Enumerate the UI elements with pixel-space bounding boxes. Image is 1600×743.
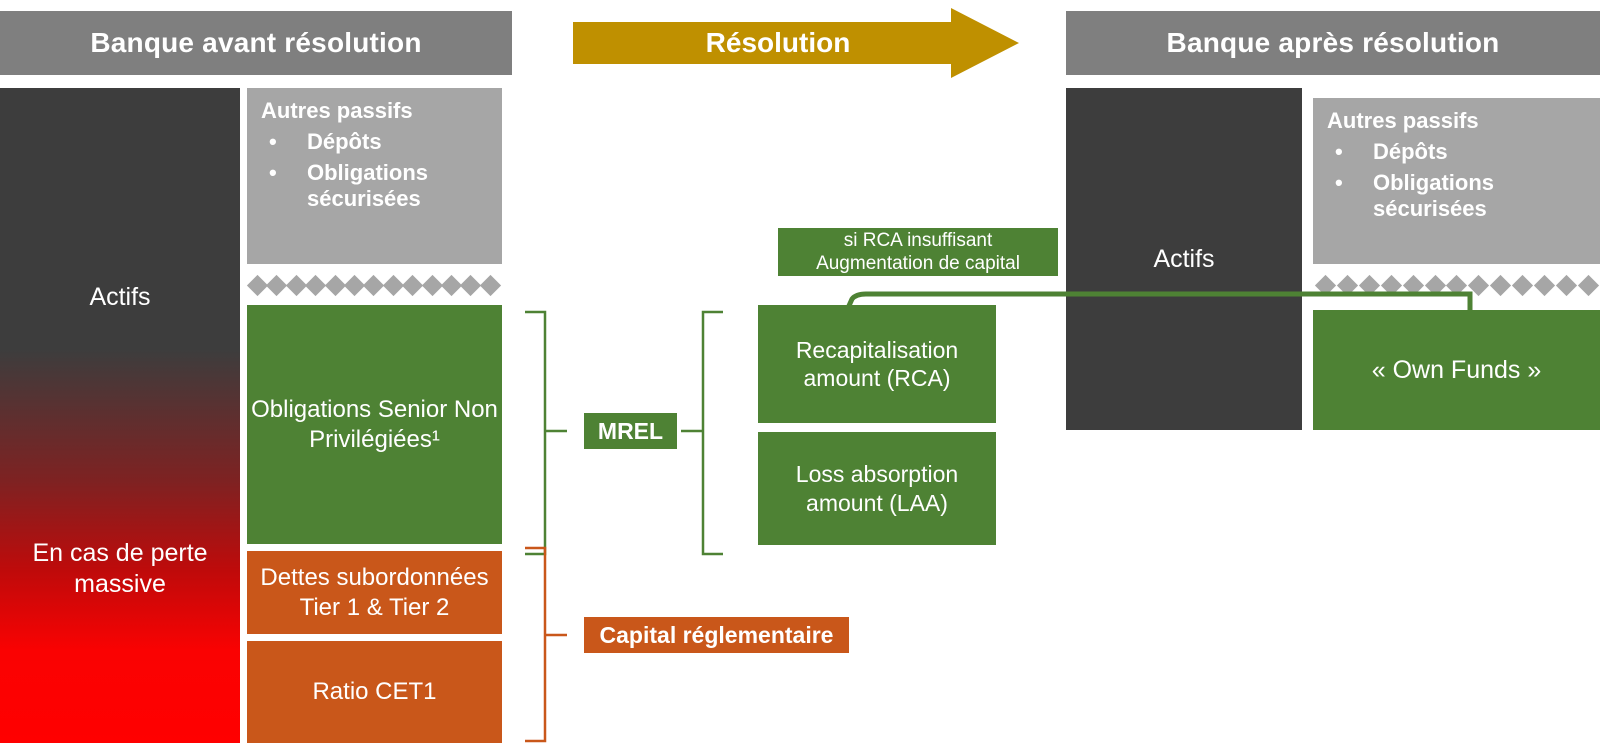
other-liabilities-item-label: Obligations sécurisées xyxy=(307,160,428,212)
rca-note-line2: Augmentation de capital xyxy=(816,252,1020,275)
massive-loss-line1: En cas de perte xyxy=(0,538,240,569)
resolution-arrow-icon xyxy=(573,8,1019,78)
other-liabilities-after: Autres passifs • Dépôts • Obligations sé… xyxy=(1313,98,1600,264)
other-liabilities-title-before: Autres passifs xyxy=(261,98,488,125)
regulatory-capital-bracket xyxy=(523,546,585,743)
senior-non-preferred-bonds-box: Obligations Senior Non Privilégiées¹ xyxy=(247,305,502,544)
laa-line1: Loss absorption xyxy=(796,460,958,488)
other-liabilities-item-label: Dépôts xyxy=(307,129,382,154)
mrel-label-box: MREL xyxy=(584,413,677,449)
assets-column-after: Actifs xyxy=(1066,88,1302,430)
assets-label-before: Actifs xyxy=(0,282,240,313)
other-liabilities-title-after: Autres passifs xyxy=(1327,108,1586,135)
mrel-left-bracket xyxy=(523,310,585,556)
diamond-icon xyxy=(1578,274,1599,295)
diamond-icon xyxy=(1556,274,1577,295)
other-liabilities-before: Autres passifs • Dépôts • Obligations sé… xyxy=(247,88,502,264)
massive-loss-label: En cas de perte massive xyxy=(0,538,240,599)
loss-absorption-amount-box: Loss absorption amount (LAA) xyxy=(758,432,996,545)
rca-note-line1: si RCA insuffisant xyxy=(816,229,1020,252)
rca-insufficient-note-box: si RCA insuffisant Augmentation de capit… xyxy=(778,228,1058,276)
bullet-icon: • xyxy=(269,129,277,156)
cet1-ratio-box: Ratio CET1 xyxy=(247,641,502,743)
rca-line2: amount (RCA) xyxy=(796,364,958,392)
regulatory-capital-label-box: Capital réglementaire xyxy=(584,617,849,653)
header-bank-after: Banque après résolution xyxy=(1066,11,1600,75)
rca-line1: Recapitalisation xyxy=(796,336,958,364)
bullet-icon: • xyxy=(1335,170,1343,197)
list-item: • Obligations sécurisées xyxy=(1327,170,1586,224)
assets-column-before: Actifs En cas de perte massive xyxy=(0,88,240,743)
mrel-right-bracket xyxy=(677,310,761,556)
diamond-icon xyxy=(460,274,481,295)
diamond-icon xyxy=(266,274,287,295)
diamond-icon xyxy=(1534,274,1555,295)
header-bank-before: Banque avant résolution xyxy=(0,11,512,75)
bullet-icon: • xyxy=(1335,139,1343,166)
massive-loss-line2: massive xyxy=(0,569,240,600)
subordinated-debt-box: Dettes subordonnées Tier 1 & Tier 2 xyxy=(247,551,502,634)
diamond-icon xyxy=(480,274,501,295)
capital-increase-connector-arrow xyxy=(840,286,1500,332)
list-item: • Dépôts xyxy=(1327,139,1586,166)
list-item: • Dépôts xyxy=(261,129,488,156)
diamond-icon xyxy=(305,274,326,295)
diamond-separator-before xyxy=(250,272,498,298)
diagram-canvas: Banque avant résolution Banque après rés… xyxy=(0,0,1600,743)
list-item: • Obligations sécurisées xyxy=(261,160,488,214)
other-liabilities-item-label: Obligations sécurisées xyxy=(1373,170,1494,222)
diamond-icon xyxy=(363,274,384,295)
laa-line2: amount (LAA) xyxy=(796,489,958,517)
diamond-icon xyxy=(402,274,423,295)
other-liabilities-item-label: Dépôts xyxy=(1373,139,1448,164)
diamond-icon xyxy=(1512,274,1533,295)
bullet-icon: • xyxy=(269,160,277,187)
